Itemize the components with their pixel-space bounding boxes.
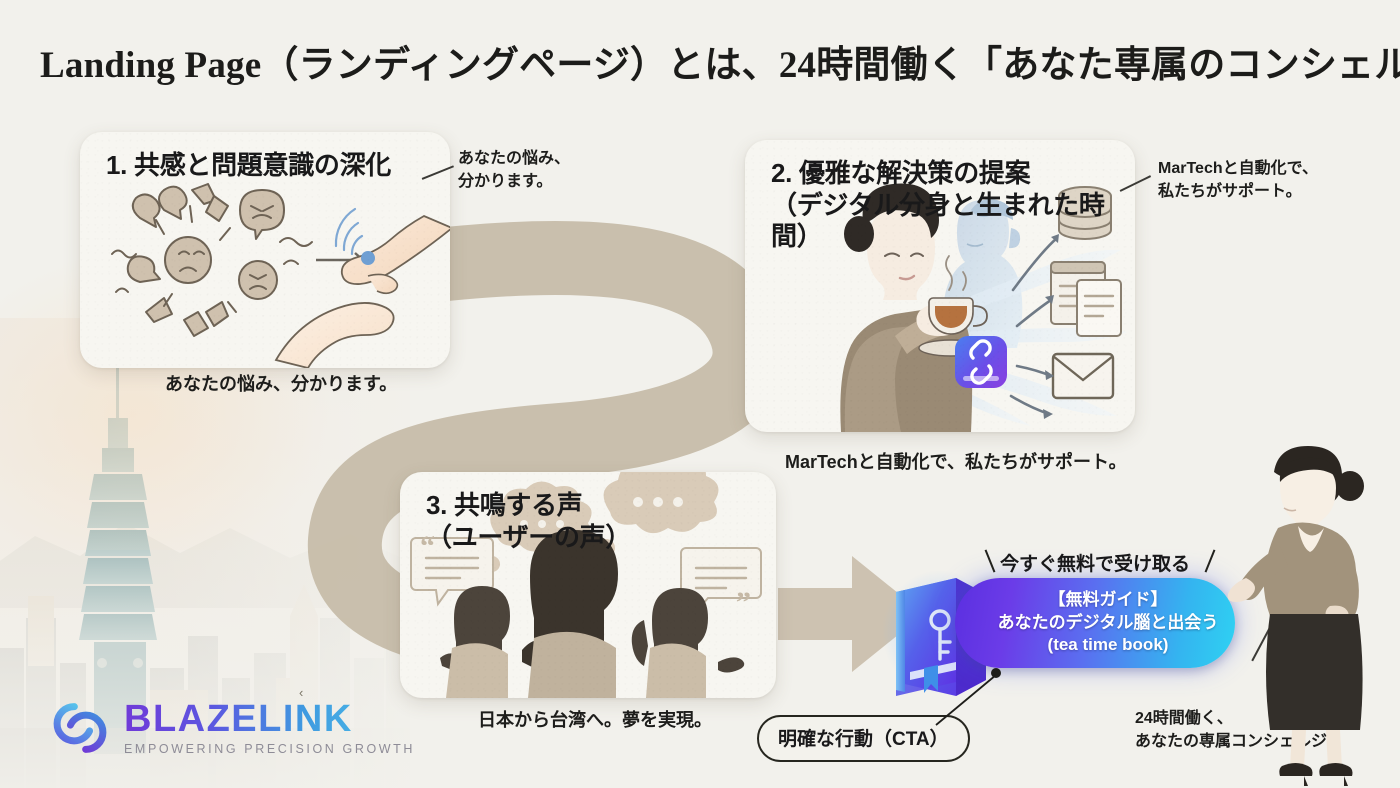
card-empathy[interactable]: 1. 共感と問題意識の深化 — [80, 132, 450, 368]
card-solution[interactable]: 2. 優雅な解決策の提案 （デジタル分身と生まれた時間） — [745, 140, 1135, 432]
svg-text:”: ” — [736, 586, 751, 619]
slide-canvas: Landing Page（ランディングページ）とは、24時間働く「あなた専属のコ… — [0, 0, 1400, 788]
card-3-title: 3. 共鳴する声 （ユーザーの声） — [426, 490, 762, 553]
card-1-note: あなたの悩み、 分かります。 — [458, 148, 570, 193]
card-2-title: 2. 優雅な解決策の提案 （デジタル分身と生まれた時間） — [771, 158, 1121, 253]
card-2-caption: MarTechと自動化で、私たちがサポート。 — [785, 448, 1127, 474]
slash-right-decor — [1205, 549, 1216, 572]
cta-leader-line — [930, 665, 1010, 737]
cta-above-label: 今すぐ無料で受け取る — [1000, 549, 1190, 576]
brand-logo[interactable]: BLAZELINK EMPOWERING PRECISION GROWTH — [48, 696, 415, 760]
decor-dot: ‹ — [299, 685, 303, 700]
concierge-woman-illustration — [1222, 442, 1400, 788]
cta-button-label: 【無料ガイド】 あなたのデジタル腦と出会う (tea time book) — [972, 589, 1219, 656]
card-voices[interactable]: “ ” 3. 共鳴する声 （ユ — [400, 472, 776, 698]
card-2-note: MarTechと自動化で、 私たちがサポート。 — [1158, 158, 1318, 203]
logo-wordmark: BLAZELINK — [124, 700, 415, 738]
card-3-caption: 日本から台湾へ。夢を実現。 — [478, 706, 712, 732]
cta-button[interactable]: 【無料ガイド】 あなたのデジタル腦と出会う (tea time book) — [955, 578, 1235, 668]
logo-tagline: EMPOWERING PRECISION GROWTH — [124, 743, 415, 756]
chain-link-icon — [48, 696, 112, 760]
blazelink-badge — [955, 336, 1007, 388]
page-title: Landing Page（ランディングページ）とは、24時間働く「あなた専属のコ… — [40, 34, 1370, 88]
card-1-caption: あなたの悩み、分かります。 — [165, 370, 397, 396]
card-1-title: 1. 共感と問題意識の深化 — [106, 150, 436, 182]
